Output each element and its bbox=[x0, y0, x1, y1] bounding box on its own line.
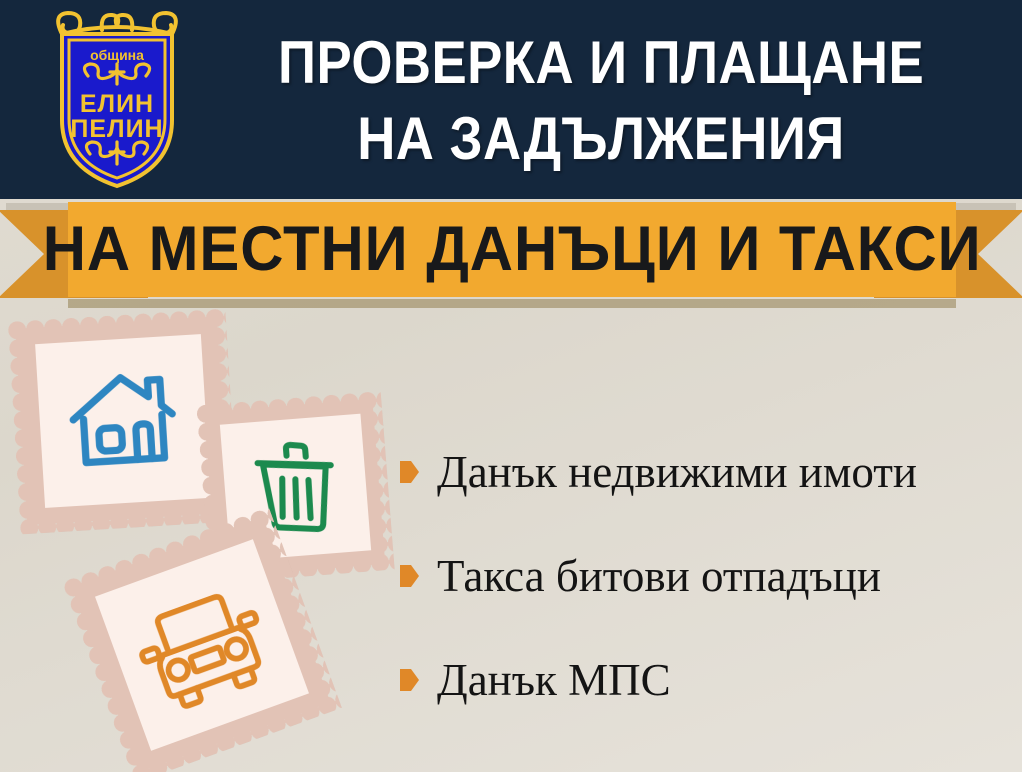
ribbon-label: НА МЕСТНИ ДАНЪЦИ И ТАКСИ bbox=[43, 218, 982, 281]
subtitle-ribbon: НА МЕСТНИ ДАНЪЦИ И ТАКСИ bbox=[0, 199, 1022, 309]
car-front-icon bbox=[123, 569, 281, 721]
poster-canvas: община ЕЛИН ПЕЛИН bbox=[0, 0, 1022, 772]
list-item-label: Данък МПС bbox=[437, 655, 671, 705]
list-item-label: Такса битови отпадъци bbox=[437, 551, 881, 601]
crest-name-line-2: ПЕЛИН bbox=[70, 115, 163, 143]
title-line-1: ПРОВЕРКА И ПЛАЩАНЕ bbox=[278, 25, 924, 101]
stamp-house-paper bbox=[35, 334, 211, 508]
ribbon-drop-shadow bbox=[68, 299, 956, 308]
list-item[interactable]: Данък МПС bbox=[400, 628, 1015, 732]
service-list: Данък недвижими имоти Такса битови отпад… bbox=[400, 420, 1015, 732]
stamp-car-paper bbox=[95, 539, 309, 751]
list-item[interactable]: Такса битови отпадъци bbox=[400, 524, 1015, 628]
list-item-label: Данък недвижими имоти bbox=[437, 447, 917, 497]
bullet-arrow-icon bbox=[400, 669, 419, 691]
title-line-2: НА ЗАДЪЛЖЕНИЯ bbox=[357, 101, 844, 177]
list-item[interactable]: Данък недвижими имоти bbox=[400, 420, 1015, 524]
coat-of-arms: община ЕЛИН ПЕЛИН bbox=[42, 8, 192, 190]
house-icon bbox=[57, 355, 188, 486]
ribbon-banner: НА МЕСТНИ ДАНЪЦИ И ТАКСИ bbox=[68, 202, 956, 297]
crest-name-line-1: ЕЛИН bbox=[80, 90, 154, 118]
coat-of-arms-icon: община ЕЛИН ПЕЛИН bbox=[42, 8, 192, 190]
bullet-arrow-icon bbox=[400, 565, 419, 587]
header-bar: община ЕЛИН ПЕЛИН bbox=[0, 0, 1022, 199]
poster-title: ПРОВЕРКА И ПЛАЩАНЕ НА ЗАДЪЛЖЕНИЯ bbox=[196, 18, 1006, 184]
crest-top-label: община bbox=[90, 47, 144, 63]
bullet-arrow-icon bbox=[400, 461, 419, 483]
